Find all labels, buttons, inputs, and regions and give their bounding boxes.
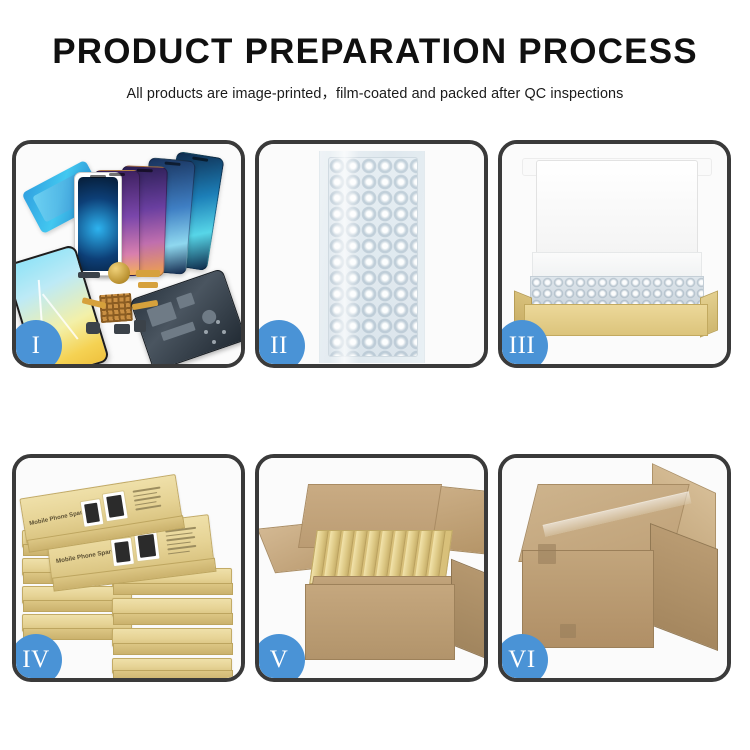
- process-grid: I II III: [12, 140, 738, 682]
- process-step-4: Mobile Phone Spare Parts Mobile Phone Sp…: [12, 454, 245, 682]
- small-part-icon: [114, 324, 130, 334]
- step-badge-4: IV: [12, 634, 62, 682]
- kraft-box-icon: [524, 304, 708, 336]
- step-badge-6: VI: [498, 634, 548, 682]
- screw-icon: [222, 330, 226, 334]
- process-step-5: V: [255, 454, 488, 682]
- process-step-2: II: [255, 140, 488, 368]
- process-step-1: I: [12, 140, 245, 368]
- carton-tab: [538, 544, 556, 564]
- carton-front-face: [522, 550, 654, 648]
- small-part-icon: [134, 320, 146, 332]
- box-artwork-screen: [110, 537, 135, 567]
- step-badge-5: V: [255, 634, 305, 682]
- infographic-page: PRODUCT PREPARATION PROCESS All products…: [0, 0, 750, 750]
- step-badge-2: II: [255, 320, 305, 368]
- process-step-6: VI: [498, 454, 731, 682]
- carton-side-face: [451, 559, 484, 660]
- small-part-icon: [78, 272, 100, 278]
- box-spec-lines: [165, 526, 202, 557]
- screw-icon: [216, 320, 220, 324]
- step-badge-3: III: [498, 320, 548, 368]
- page-subtitle: All products are image-printed，film-coat…: [0, 82, 750, 103]
- box-artwork-screen: [80, 498, 105, 528]
- screw-icon: [212, 340, 216, 344]
- phone-screen-fan: [72, 154, 241, 289]
- stacked-box: [112, 598, 232, 617]
- step-badge-1: I: [12, 320, 62, 368]
- bubble-wrap-sheen: [330, 151, 359, 363]
- carton-front-face: [305, 584, 455, 660]
- box-artwork-screen: [102, 490, 129, 522]
- small-part-icon: [86, 322, 100, 334]
- speaker-part-icon: [108, 262, 130, 284]
- page-title: PRODUCT PREPARATION PROCESS: [0, 34, 750, 71]
- flex-cable-icon: [136, 270, 160, 277]
- process-step-3: III: [498, 140, 731, 368]
- phone-screen-icon: [74, 172, 122, 276]
- header: PRODUCT PREPARATION PROCESS All products…: [0, 0, 750, 103]
- box-spec-lines: [133, 486, 168, 513]
- stacked-box: [112, 658, 232, 674]
- carton-tab: [560, 624, 576, 638]
- flex-cable-icon: [138, 282, 158, 288]
- stacked-box: [112, 628, 232, 647]
- screw-icon: [204, 330, 208, 334]
- bubble-wrap-icon: [319, 151, 425, 363]
